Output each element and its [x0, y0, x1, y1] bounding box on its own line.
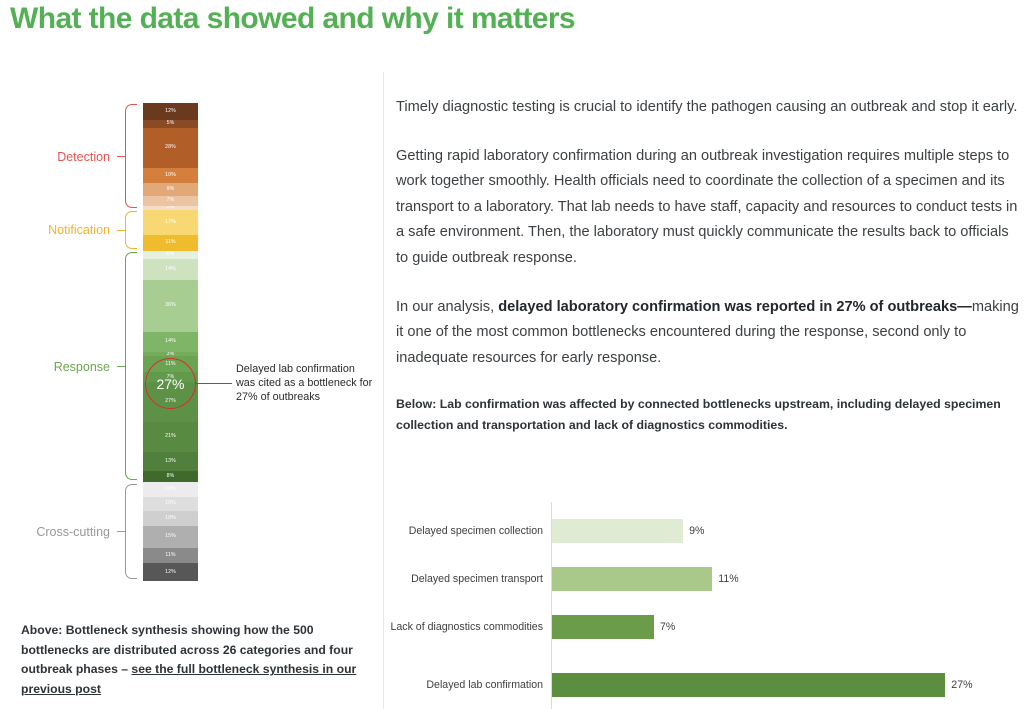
bracket-nub	[117, 531, 126, 532]
stack-segment-label: 17%	[165, 220, 176, 225]
stack-segment-label: 14%	[165, 267, 176, 272]
phase-bracket-notification	[125, 211, 137, 249]
page-title: What the data showed and why it matters	[10, 0, 575, 38]
stack-segment: 9%	[143, 183, 198, 196]
column-divider	[383, 72, 384, 709]
phase-bracket-detection	[125, 104, 137, 208]
stack-segment: 36%	[143, 280, 198, 332]
phase-label-detection: Detection	[57, 150, 110, 164]
stack-segment-label: 15%	[165, 534, 176, 539]
bar-category-label: Delayed lab confirmation	[426, 670, 543, 700]
bracket-nub	[117, 366, 126, 367]
paragraph-3: In our analysis, delayed laboratory conf…	[396, 295, 1020, 372]
bar-row: Delayed specimen transport11%	[396, 564, 1024, 594]
stack-segment-label: 7%	[167, 198, 175, 203]
figure-caption-above: Above: Bottleneck synthesis showing how …	[21, 621, 369, 699]
stack-segment: 21%	[143, 422, 198, 452]
bracket-nub	[117, 156, 126, 157]
bar-value-label: 27%	[951, 670, 972, 700]
stack-segment: 10%	[143, 511, 198, 525]
right-panel: Timely diagnostic testing is crucial to …	[396, 95, 1020, 435]
upstream-bottlenecks-chart: Delayed specimen collection9%Delayed spe…	[396, 498, 1024, 709]
stack-segment-label: 10%	[165, 516, 176, 521]
callout-text: Delayed lab confirmation was cited as a …	[236, 362, 376, 405]
bar-category-label: Delayed specimen collection	[409, 516, 543, 546]
callout-circle: 27%	[145, 358, 196, 409]
bar	[552, 673, 945, 697]
phase-bracket-response	[125, 252, 137, 481]
left-panel: DetectionNotificationResponseCross-cutti…	[0, 70, 380, 709]
bar-value-label: 11%	[718, 564, 738, 594]
bar-row: Delayed specimen collection9%	[396, 516, 1024, 546]
stack-segment: 8%	[143, 471, 198, 483]
callout-leader-line	[196, 383, 232, 384]
phase-label-cross-cutting: Cross-cutting	[36, 525, 110, 539]
bar-category-label: Lack of diagnostics commodities	[390, 612, 543, 642]
stack-segment-label: 36%	[165, 303, 176, 308]
stack-segment: 14%	[143, 332, 198, 352]
stack-segment-label: 5%	[167, 121, 175, 126]
stack-segment: 10%	[143, 482, 198, 496]
bar	[552, 519, 683, 543]
stack-segment-label: 21%	[165, 434, 176, 439]
bracket-nub	[117, 230, 126, 231]
stack-segment-label: 10%	[165, 173, 176, 178]
stack-segment: 17%	[143, 210, 198, 235]
bottleneck-stacked-bar: 12%5%28%10%9%7%3%17%11%6%14%36%14%3%11%7…	[143, 103, 198, 581]
stack-segment: 11%	[143, 235, 198, 251]
bar-category-label: Delayed specimen transport	[411, 564, 543, 594]
stack-segment: 15%	[143, 526, 198, 548]
stack-segment-label: 14%	[165, 339, 176, 344]
stack-segment: 28%	[143, 128, 198, 169]
stack-segment: 6%	[143, 251, 198, 260]
bar-row: Delayed lab confirmation27%	[396, 670, 1024, 700]
stack-segment: 12%	[143, 563, 198, 580]
stack-segment-label: 11%	[165, 553, 175, 558]
paragraph-3-pre: In our analysis,	[396, 299, 498, 315]
phase-bracket-cross-cutting	[125, 484, 137, 579]
stack-segment-label: 13%	[165, 459, 176, 464]
bar-value-label: 9%	[689, 516, 704, 546]
stack-segment-label: 12%	[165, 109, 176, 114]
stack-segment-label: 9%	[167, 187, 175, 192]
stack-segment-label: 28%	[165, 145, 176, 150]
stack-segment-label: 10%	[165, 487, 176, 492]
stack-segment: 11%	[143, 548, 198, 564]
phase-label-notification: Notification	[48, 223, 110, 237]
figure-caption-below: Below: Lab confirmation was affected by …	[396, 394, 1010, 435]
callout-value: 27%	[156, 376, 184, 392]
bar-value-label: 7%	[660, 612, 675, 642]
paragraph-3-highlight: delayed laboratory confirmation was repo…	[498, 299, 972, 315]
stack-segment-label: 8%	[167, 474, 175, 479]
bar-row: Lack of diagnostics commodities7%	[396, 612, 1024, 642]
paragraph-1: Timely diagnostic testing is crucial to …	[396, 95, 1020, 121]
stack-segment: 12%	[143, 103, 198, 120]
stack-segment-label: 11%	[165, 240, 175, 245]
stack-segment: 5%	[143, 120, 198, 127]
bar	[552, 567, 712, 591]
bar	[552, 615, 654, 639]
page-root: What the data showed and why it matters …	[0, 0, 1024, 709]
stack-segment: 13%	[143, 452, 198, 471]
stack-segment: 10%	[143, 168, 198, 182]
stack-segment: 14%	[143, 259, 198, 279]
stack-segment: 7%	[143, 196, 198, 206]
stack-segment: 10%	[143, 497, 198, 511]
stack-segment-label: 12%	[165, 570, 176, 575]
stack-segment-label: 6%	[167, 252, 175, 257]
paragraph-2: Getting rapid laboratory confirmation du…	[396, 144, 1020, 272]
stack-segment-label: 10%	[165, 501, 176, 506]
phase-label-response: Response	[54, 360, 110, 374]
